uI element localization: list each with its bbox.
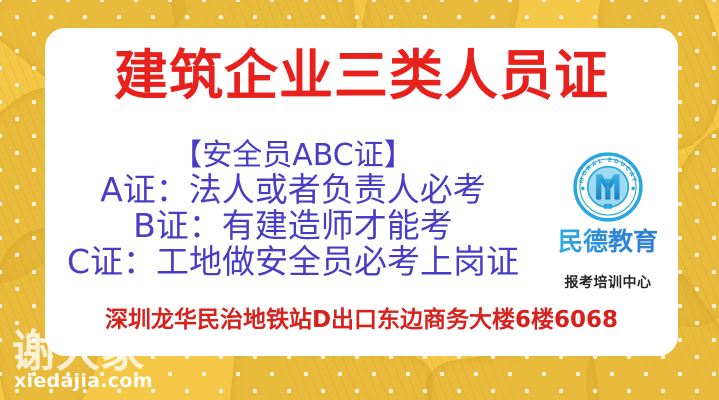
brand-logo-block: MORAL EDUCAT 民德教育 报考培训中心 xyxy=(542,152,674,292)
brand-sublabel: 报考培训中心 xyxy=(542,272,674,292)
certificate-headline: 【安全员ABC证】 xyxy=(53,140,533,172)
page-title: 建筑企业三类人员证 xyxy=(45,46,678,106)
moral-education-seal-icon: MORAL EDUCAT xyxy=(573,152,643,222)
certificate-description-block: 【安全员ABC证】 A证：法人或者负责人必考 B证：有建造师才能考 C证：工地做… xyxy=(53,140,533,279)
certificate-line-b: B证：有建造师才能考 xyxy=(53,208,533,244)
content-card: 建筑企业三类人员证 【安全员ABC证】 A证：法人或者负责人必考 B证：有建造师… xyxy=(45,28,678,356)
certificate-line-a: A证：法人或者负责人必考 xyxy=(53,172,533,208)
watermark-url: xiedajia.com xyxy=(14,370,153,392)
certificate-line-c: C证：工地做安全员必考上岗证 xyxy=(53,244,533,280)
brand-name: 民德教育 xyxy=(542,228,674,256)
address-text: 深圳龙华民治地铁站D出口东边商务大楼6楼6068 xyxy=(45,300,678,334)
poster-canvas: 建筑企业三类人员证 【安全员ABC证】 A证：法人或者负责人必考 B证：有建造师… xyxy=(0,0,719,400)
